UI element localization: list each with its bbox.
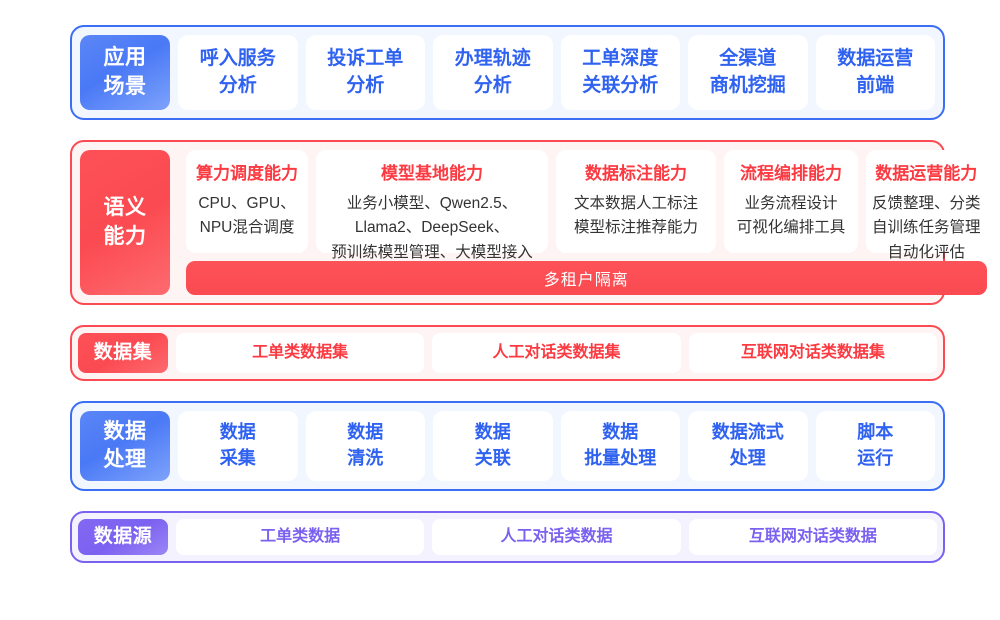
capability-card-body: 文本数据人工标注 模型标注推荐能力 — [562, 192, 710, 241]
scenario-card-line-2: 分析 — [474, 73, 512, 100]
scenario-card-line-1: 数据运营 — [837, 46, 913, 73]
scenario-card-data-operations-frontend[interactable]: 数据运营 前端 — [816, 35, 936, 110]
capability-card-body: CPU、GPU、 NPU混合调度 — [192, 192, 302, 241]
category-label-line-1: 应用 — [104, 44, 147, 72]
scenario-card-omnichannel-opportunity-mining[interactable]: 全渠道 商机挖掘 — [688, 35, 808, 110]
processing-card-line-1: 数据流式 — [712, 420, 784, 446]
capability-card-model-base[interactable]: 模型基地能力 业务小模型、Qwen2.5、 Llama2、DeepSeek、 预… — [316, 150, 548, 253]
scenario-card-line-1: 呼入服务 — [200, 46, 276, 73]
scenario-card-complaint-ticket-analysis[interactable]: 投诉工单 分析 — [306, 35, 426, 110]
category-label-application-scenarios: 应用 场景 — [80, 35, 170, 110]
category-label-data-processing: 数据 处理 — [80, 411, 170, 481]
capability-card-body: 反馈整理、分类 自训练任务管理 自动化评估 — [872, 192, 981, 265]
capability-card-data-annotation[interactable]: 数据标注能力 文本数据人工标注 模型标注推荐能力 — [556, 150, 716, 253]
scenario-card-line-2: 前端 — [856, 73, 894, 100]
capability-body-line-2: 可视化编排工具 — [737, 219, 846, 236]
capability-card-body: 业务流程设计 可视化编排工具 — [730, 192, 852, 241]
row-data-sources: 数据源 工单类数据 人工对话类数据 互联网对话类数据 — [70, 511, 945, 563]
multi-tenant-isolation-bar: 多租户隔离 — [186, 261, 987, 295]
capability-body-line-2: 自训练任务管理 — [872, 219, 981, 236]
scenario-card-line-1: 工单深度 — [582, 46, 658, 73]
category-label-datasets: 数据集 — [78, 333, 168, 373]
scenario-card-line-2: 关联分析 — [582, 73, 658, 100]
source-card-human-dialogue-data[interactable]: 人工对话类数据 — [432, 519, 680, 555]
scenario-card-line-2: 商机挖掘 — [710, 73, 786, 100]
scenario-card-handling-trace-analysis[interactable]: 办理轨迹 分析 — [433, 35, 553, 110]
category-label-line-2: 场景 — [104, 73, 147, 101]
capability-card-title: 数据标注能力 — [585, 159, 687, 184]
row-data-processing: 数据 处理 数据 采集 数据 清洗 数据 关联 数据 批量处理 数据流式 处理 … — [70, 401, 945, 491]
processing-card-line-2: 清洗 — [347, 446, 383, 472]
capability-body-line-1: 业务流程设计 — [744, 195, 837, 212]
source-card-internet-dialogue-data[interactable]: 互联网对话类数据 — [689, 519, 937, 555]
category-label-data-sources: 数据源 — [78, 519, 168, 555]
capability-card-data-operations[interactable]: 数据运营能力 反馈整理、分类 自训练任务管理 自动化评估 — [866, 150, 987, 253]
capability-card-title: 模型基地能力 — [381, 159, 483, 184]
capability-card-process-orchestration[interactable]: 流程编排能力 业务流程设计 可视化编排工具 — [724, 150, 858, 253]
processing-card-script-running[interactable]: 脚本 运行 — [816, 411, 936, 481]
capability-body-line-2: Llama2、DeepSeek、 — [355, 219, 509, 236]
row-semantic-capability: 语义 能力 算力调度能力 CPU、GPU、 NPU混合调度 模型基地能力 业务小… — [70, 140, 945, 305]
capability-card-title: 数据运营能力 — [875, 159, 977, 184]
category-label-semantic-capability: 语义 能力 — [80, 150, 170, 295]
processing-card-line-1: 脚本 — [857, 420, 893, 446]
semantic-capability-content: 算力调度能力 CPU、GPU、 NPU混合调度 模型基地能力 业务小模型、Qwe… — [186, 150, 987, 295]
capability-body-line-1: 业务小模型、Qwen2.5、 — [347, 195, 518, 212]
capability-body-line-1: 文本数据人工标注 — [574, 195, 698, 212]
capability-body-line-2: NPU混合调度 — [200, 219, 295, 236]
processing-card-data-correlation[interactable]: 数据 关联 — [433, 411, 553, 481]
row-application-scenarios: 应用 场景 呼入服务 分析 投诉工单 分析 办理轨迹 分析 工单深度 关联分析 … — [70, 25, 945, 120]
scenario-card-line-1: 投诉工单 — [327, 46, 403, 73]
scenario-card-ticket-deep-correlation-analysis[interactable]: 工单深度 关联分析 — [561, 35, 681, 110]
processing-card-data-collection[interactable]: 数据 采集 — [178, 411, 298, 481]
scenario-card-line-1: 全渠道 — [719, 46, 776, 73]
scenario-card-inbound-service-analysis[interactable]: 呼入服务 分析 — [178, 35, 298, 110]
source-card-ticket-data[interactable]: 工单类数据 — [176, 519, 424, 555]
capability-body-line-3: 自动化评估 — [888, 244, 966, 261]
capability-body-line-2: 模型标注推荐能力 — [574, 219, 698, 236]
capability-body-line-1: CPU、GPU、 — [198, 195, 295, 212]
processing-card-data-cleaning[interactable]: 数据 清洗 — [306, 411, 426, 481]
processing-card-line-1: 数据 — [347, 420, 383, 446]
category-label-line-2: 能力 — [104, 223, 147, 251]
scenario-card-line-1: 办理轨迹 — [455, 46, 531, 73]
processing-card-line-1: 数据 — [220, 420, 256, 446]
processing-card-line-1: 数据 — [475, 420, 511, 446]
capability-card-title: 算力调度能力 — [196, 159, 298, 184]
category-label-line-1: 数据 — [104, 418, 147, 446]
processing-card-line-2: 采集 — [220, 446, 256, 472]
architecture-diagram: 应用 场景 呼入服务 分析 投诉工单 分析 办理轨迹 分析 工单深度 关联分析 … — [0, 0, 1000, 620]
capability-card-title: 流程编排能力 — [740, 159, 842, 184]
dataset-card-internet-dialogue[interactable]: 互联网对话类数据集 — [689, 333, 937, 373]
processing-card-line-2: 批量处理 — [584, 446, 656, 472]
processing-card-line-2: 运行 — [857, 446, 893, 472]
processing-card-line-1: 数据 — [602, 420, 638, 446]
capability-body-line-1: 反馈整理、分类 — [872, 195, 981, 212]
row-datasets: 数据集 工单类数据集 人工对话类数据集 互联网对话类数据集 — [70, 325, 945, 381]
processing-card-data-batch-processing[interactable]: 数据 批量处理 — [561, 411, 681, 481]
scenario-card-line-2: 分析 — [346, 73, 384, 100]
semantic-capability-card-list: 算力调度能力 CPU、GPU、 NPU混合调度 模型基地能力 业务小模型、Qwe… — [186, 150, 987, 253]
capability-body-line-3: 预训练模型管理、大模型接入 — [331, 244, 533, 261]
category-label-line-1: 语义 — [104, 194, 147, 222]
processing-card-line-2: 处理 — [730, 446, 766, 472]
category-label-line-2: 处理 — [104, 446, 147, 474]
dataset-card-ticket[interactable]: 工单类数据集 — [176, 333, 424, 373]
scenario-card-line-2: 分析 — [219, 73, 257, 100]
dataset-card-human-dialogue[interactable]: 人工对话类数据集 — [432, 333, 680, 373]
processing-card-line-2: 关联 — [475, 446, 511, 472]
processing-card-data-stream-processing[interactable]: 数据流式 处理 — [688, 411, 808, 481]
capability-card-body: 业务小模型、Qwen2.5、 Llama2、DeepSeek、 预训练模型管理、… — [322, 192, 542, 265]
capability-card-compute-scheduling[interactable]: 算力调度能力 CPU、GPU、 NPU混合调度 — [186, 150, 308, 253]
